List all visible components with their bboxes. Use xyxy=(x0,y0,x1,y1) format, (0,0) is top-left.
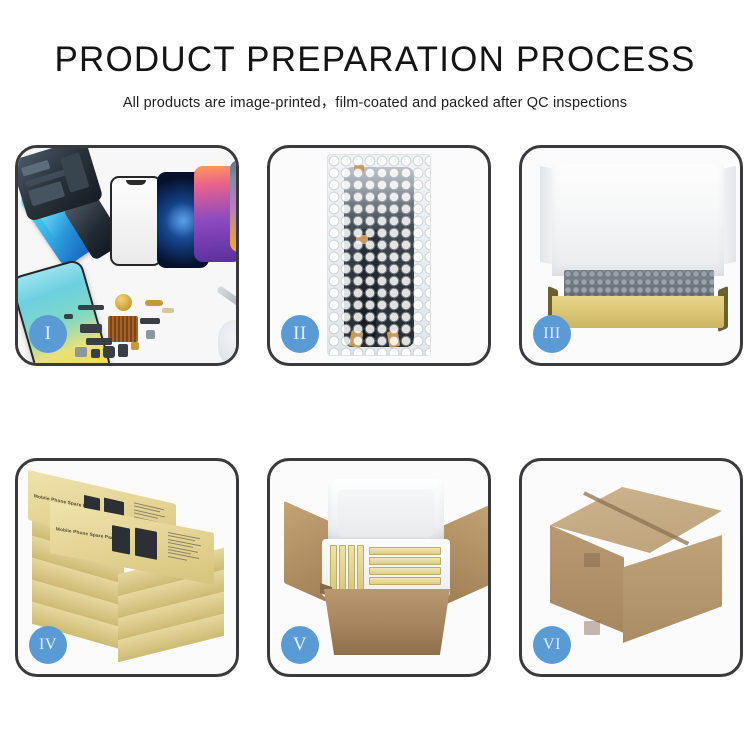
process-step-panel-3[interactable]: III xyxy=(519,145,743,366)
step-badge-2: II xyxy=(281,315,319,353)
antenna-strip xyxy=(78,305,104,310)
grey-foam-padding xyxy=(564,270,714,298)
inner-yellow-box-3 xyxy=(348,545,355,591)
inner-yellow-box-2 xyxy=(339,545,346,591)
box-window-front-1 xyxy=(112,525,130,554)
screw-plate xyxy=(91,349,100,358)
inner-yellow-box-1 xyxy=(330,545,337,591)
page-root: PRODUCT PREPARATION PROCESS All products… xyxy=(0,0,750,750)
step-badge-4: IV xyxy=(29,626,67,664)
foam-box-lid xyxy=(328,479,444,545)
inner-yellow-box-flat-3 xyxy=(369,567,441,575)
process-step-panel-5[interactable]: V xyxy=(267,458,491,677)
page-subtitle: All products are image-printed，film-coat… xyxy=(0,91,750,112)
process-step-panel-2[interactable]: II xyxy=(267,145,491,366)
box-window-front-2 xyxy=(135,528,157,560)
vibration-motor xyxy=(103,346,115,358)
logic-board xyxy=(108,316,138,342)
gloved-hand xyxy=(218,320,239,366)
flex-cable-piece xyxy=(86,338,112,345)
carton-tab-upper xyxy=(584,553,600,567)
step-badge-6: VI xyxy=(533,626,571,664)
tweezers-tool xyxy=(216,285,239,317)
carton-front-face xyxy=(552,296,724,328)
step-badge-1: I xyxy=(29,315,67,353)
inner-yellow-box-flat-2 xyxy=(369,557,441,565)
button-flex xyxy=(118,344,128,357)
step-badge-5: V xyxy=(281,626,319,664)
carton-right-face xyxy=(623,535,722,643)
tape-top xyxy=(354,165,364,173)
charging-port-flex xyxy=(140,318,160,324)
process-step-panel-6[interactable]: VI xyxy=(519,458,743,677)
tape-middle xyxy=(356,235,368,244)
speaker-component xyxy=(115,294,132,311)
earpiece-mesh xyxy=(146,330,155,339)
carton-tab-lower xyxy=(584,621,600,635)
small-bracket xyxy=(162,308,174,313)
carton-inner-lid xyxy=(552,164,724,276)
micro-part xyxy=(64,314,73,319)
process-step-panel-1[interactable]: I xyxy=(15,145,239,366)
outer-carton-body xyxy=(324,589,450,655)
header: PRODUCT PREPARATION PROCESS All products… xyxy=(0,42,750,112)
page-title: PRODUCT PREPARATION PROCESS xyxy=(0,42,750,79)
phone-orange xyxy=(230,160,239,252)
inner-yellow-box-4 xyxy=(357,545,364,591)
process-step-panel-4[interactable]: Mobile Phone Spare Parts Mobile Phone Sp… xyxy=(15,458,239,677)
gold-flex-connector xyxy=(145,300,163,306)
gold-contact xyxy=(131,342,139,350)
sim-tray xyxy=(75,347,87,357)
bubble-wrap-bag xyxy=(327,154,431,356)
inner-yellow-box-flat-4 xyxy=(369,577,441,585)
step-badge-3: III xyxy=(533,315,571,353)
inner-yellow-box-flat-1 xyxy=(369,547,441,555)
screen-protector-glass xyxy=(110,176,162,266)
camera-module xyxy=(80,324,102,333)
